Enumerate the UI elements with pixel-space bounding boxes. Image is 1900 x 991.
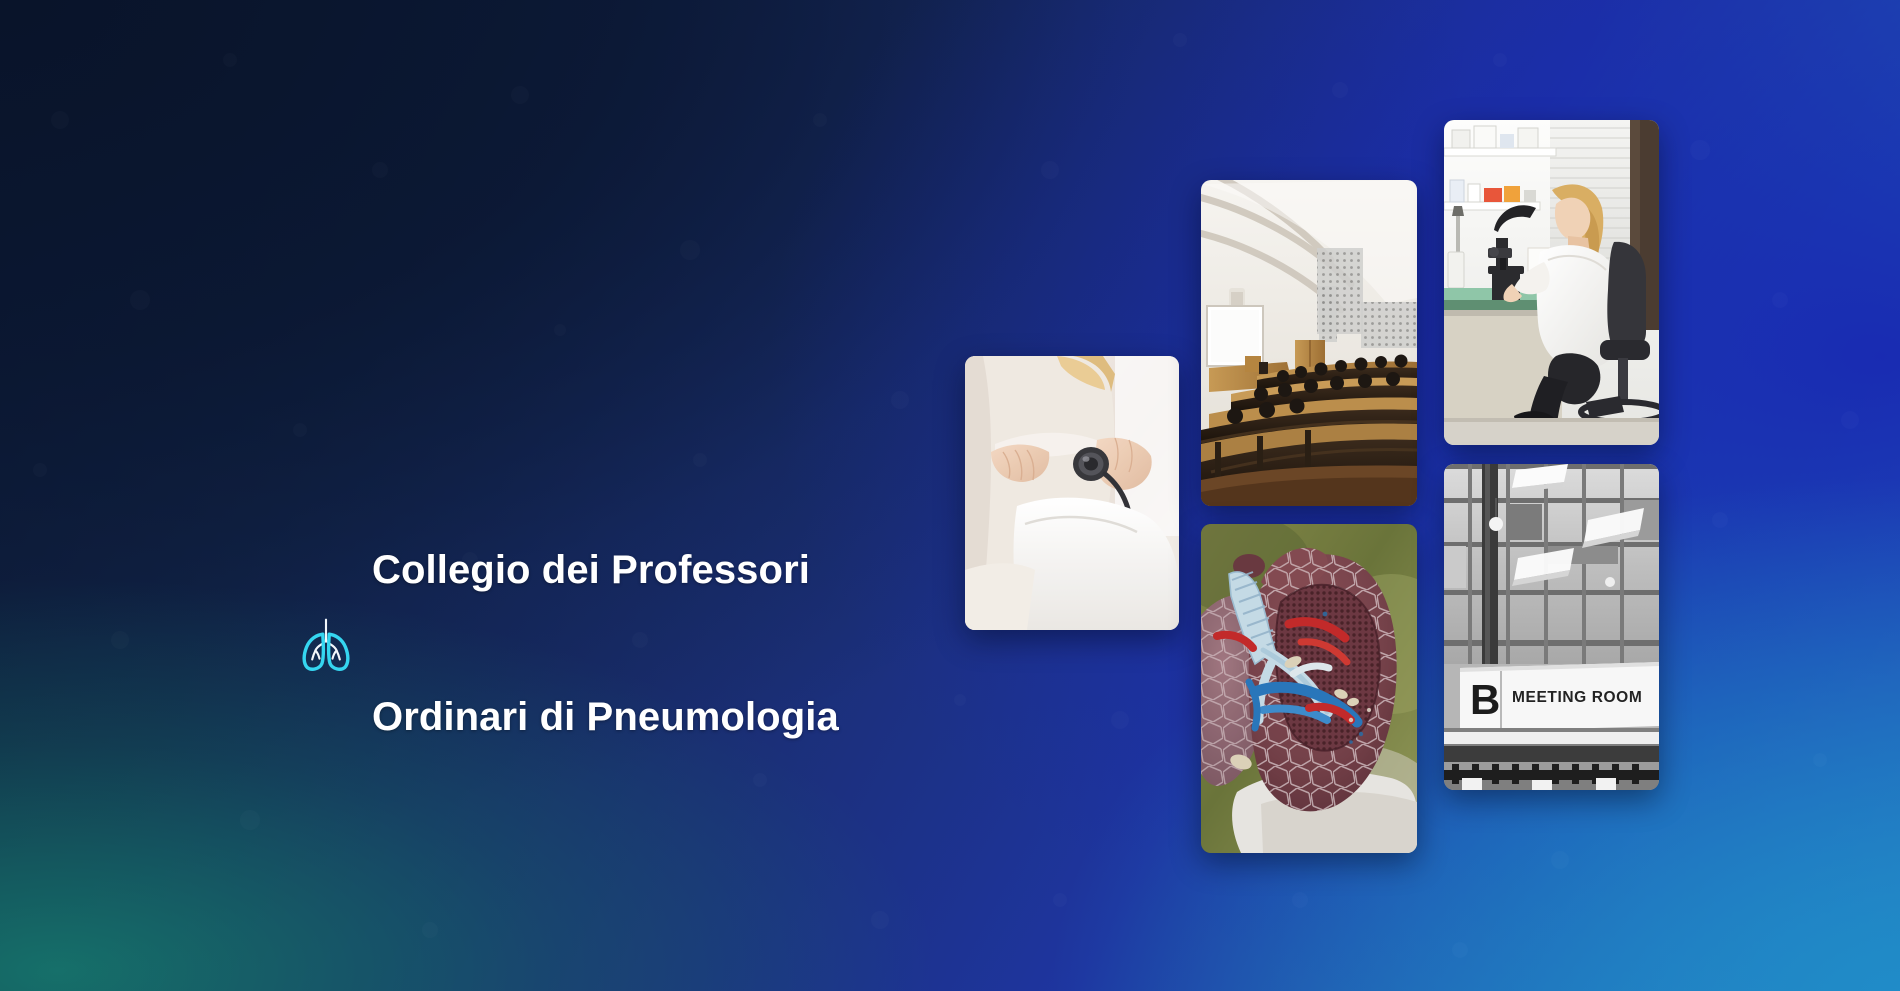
sign-label: MEETING ROOM xyxy=(1512,689,1642,706)
hero-banner: Collegio dei Professori Ordinari di Pneu… xyxy=(0,0,1900,991)
photo-lung-anatomical-model[interactable] xyxy=(1201,524,1417,853)
photo-patient-examination[interactable] xyxy=(965,356,1179,630)
photo-lecture-hall[interactable] xyxy=(1201,180,1417,506)
photo-laboratory-researcher[interactable] xyxy=(1444,120,1659,445)
sign-letter: B xyxy=(1470,676,1500,723)
photo-meeting-room-sign[interactable]: B MEETING ROOM xyxy=(1444,464,1659,790)
photo-collage: B MEETING ROOM xyxy=(0,0,1900,991)
